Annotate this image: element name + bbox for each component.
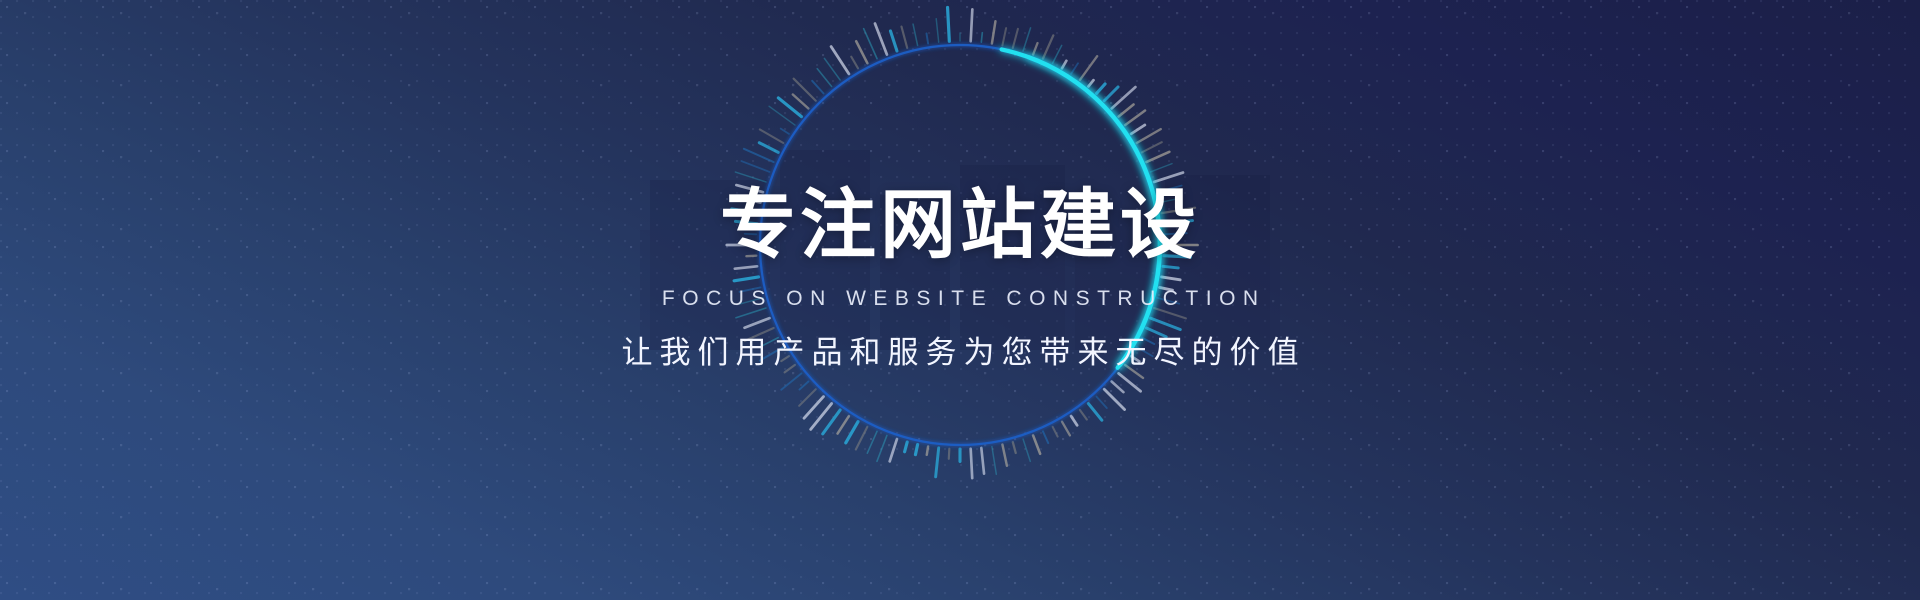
hero-banner: 专注网站建设 FOCUS ON WEBSITE CONSTRUCTION 让我们… [0, 0, 1920, 600]
page-title: 专注网站建设 [0, 188, 1920, 264]
tagline-chinese: 让我们用产品和服务为您带来无尽的价值 [0, 337, 1920, 368]
hero-text-block: 专注网站建设 FOCUS ON WEBSITE CONSTRUCTION 让我们… [0, 188, 1920, 368]
subtitle-english: FOCUS ON WEBSITE CONSTRUCTION [0, 288, 1920, 309]
